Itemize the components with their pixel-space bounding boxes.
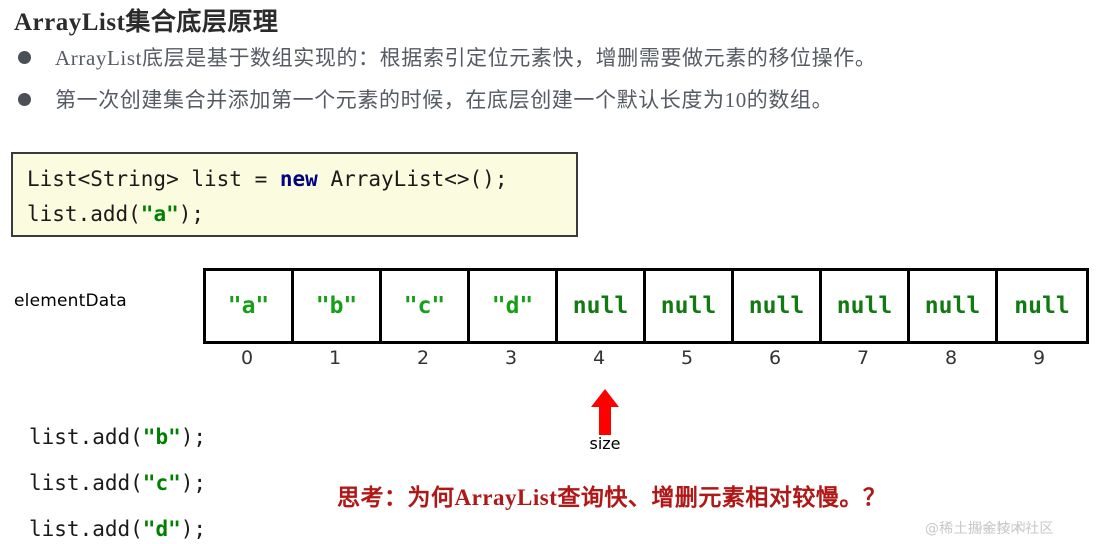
code-string-literal: "c"	[143, 471, 181, 495]
code-call-suffix: );	[181, 425, 206, 449]
array-index-0: 0	[203, 347, 291, 369]
code-call-prefix: list.add(	[29, 517, 143, 541]
bullet-dot-icon	[18, 51, 31, 64]
array-index-1: 1	[291, 347, 379, 369]
array-cell-1: "b"	[294, 271, 382, 341]
array-cell-4: null	[558, 271, 646, 341]
array-cell-5: null	[646, 271, 734, 341]
code-line-1: List<String> list = new ArrayList<>();	[27, 167, 507, 191]
array-index-7: 7	[819, 347, 907, 369]
size-label: size	[583, 436, 627, 452]
code-snippet-box: List<String> list = new ArrayList<>(); l…	[11, 152, 578, 237]
code-call-suffix: );	[179, 202, 204, 226]
array-index-2: 2	[379, 347, 467, 369]
bullet-text-1: ArrayList底层是基于数组实现的：根据索引定位元素快，增删需要做元素的移位…	[55, 42, 876, 72]
array-cell-8: null	[910, 271, 998, 341]
array-index-5: 5	[643, 347, 731, 369]
bottom-code-line-2: list.add("c");	[29, 471, 206, 495]
code-keyword-new: new	[280, 167, 318, 191]
page-title: ArrayList集合底层原理	[14, 2, 278, 38]
array-cell-2: "c"	[382, 271, 470, 341]
array-index-9: 9	[995, 347, 1083, 369]
code-text-before-keyword: List<String> list =	[27, 167, 280, 191]
bottom-code-line-3: list.add("d");	[29, 517, 206, 541]
array-cell-7: null	[822, 271, 910, 341]
element-data-label: elementData	[14, 291, 127, 311]
array-index-8: 8	[907, 347, 995, 369]
bullet-item-2: 第一次创建集合并添加第一个元素的时候，在底层创建一个默认长度为10的数组。	[18, 84, 833, 114]
array-index-3: 3	[467, 347, 555, 369]
array-index-4: 4	[555, 347, 643, 369]
array-index-row: 0123456789	[203, 347, 1089, 369]
array-cell-3: "d"	[470, 271, 558, 341]
bullet-dot-icon	[18, 93, 31, 106]
array-cells-row: "a""b""c""d"nullnullnullnullnullnull	[203, 268, 1089, 344]
code-string-literal: "b"	[143, 425, 181, 449]
bullet-text-2: 第一次创建集合并添加第一个元素的时候，在底层创建一个默认长度为10的数组。	[55, 84, 833, 114]
array-cell-0: "a"	[206, 271, 294, 341]
size-pointer: size	[583, 389, 627, 452]
code-call-prefix: list.add(	[29, 471, 143, 495]
code-string-literal: "d"	[143, 517, 181, 541]
bottom-code-line-1: list.add("b");	[29, 425, 206, 449]
bullet-item-1: ArrayList底层是基于数组实现的：根据索引定位元素快，增删需要做元素的移位…	[18, 42, 876, 72]
question-text: 思考：为何ArrayList查询快、增删元素相对较慢。？	[337, 478, 886, 512]
code-call-prefix: list.add(	[27, 202, 141, 226]
code-text-after-keyword: ArrayList<>();	[318, 167, 508, 191]
up-arrow-icon	[590, 389, 620, 435]
code-call-suffix: );	[181, 471, 206, 495]
array-cell-6: null	[734, 271, 822, 341]
array-cell-9: null	[998, 271, 1086, 341]
code-string-literal: "a"	[141, 202, 179, 226]
watermark-overlay: backend	[975, 520, 1026, 534]
array-diagram: "a""b""c""d"nullnullnullnullnullnull 012…	[203, 268, 1089, 369]
code-line-2: list.add("a");	[27, 202, 204, 226]
array-index-6: 6	[731, 347, 819, 369]
code-call-prefix: list.add(	[29, 425, 143, 449]
code-call-suffix: );	[181, 517, 206, 541]
